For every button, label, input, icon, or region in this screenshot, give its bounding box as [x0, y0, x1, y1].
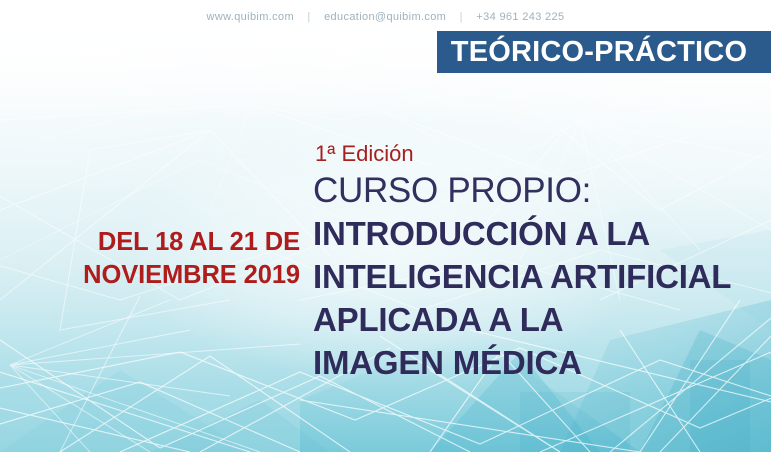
course-dates-line-1: DEL 18 AL 21 DE	[0, 226, 306, 259]
course-title-line-2: INTELIGENCIA ARTIFICIAL	[313, 255, 763, 298]
contact-separator-1: |	[298, 11, 319, 23]
edition-label: 1ª Edición	[315, 140, 763, 168]
course-title-line-3: APLICADA A LA	[313, 298, 763, 341]
phone-text: +34 961 243 225	[476, 11, 564, 23]
contact-separator-2: |	[451, 11, 472, 23]
website-text[interactable]: www.quibim.com	[207, 11, 294, 23]
contact-strip: www.quibim.com | education@quibim.com | …	[0, 8, 771, 26]
course-title-block: 1ª Edición CURSO PROPIO: INTRODUCCIÓN A …	[313, 140, 763, 384]
course-kicker: CURSO PROPIO:	[313, 169, 763, 212]
course-title-line-1: INTRODUCCIÓN A LA	[313, 212, 763, 255]
course-dates: DEL 18 AL 21 DE NOVIEMBRE 2019	[0, 226, 306, 292]
email-text[interactable]: education@quibim.com	[324, 11, 446, 23]
course-title-line-4: IMAGEN MÉDICA	[313, 341, 763, 384]
course-dates-line-2: NOVIEMBRE 2019	[0, 259, 306, 292]
course-promo-poster: www.quibim.com | education@quibim.com | …	[0, 0, 771, 452]
format-badge: TEÓRICO-PRÁCTICO	[435, 29, 771, 73]
format-badge-label: TEÓRICO-PRÁCTICO	[451, 38, 757, 67]
